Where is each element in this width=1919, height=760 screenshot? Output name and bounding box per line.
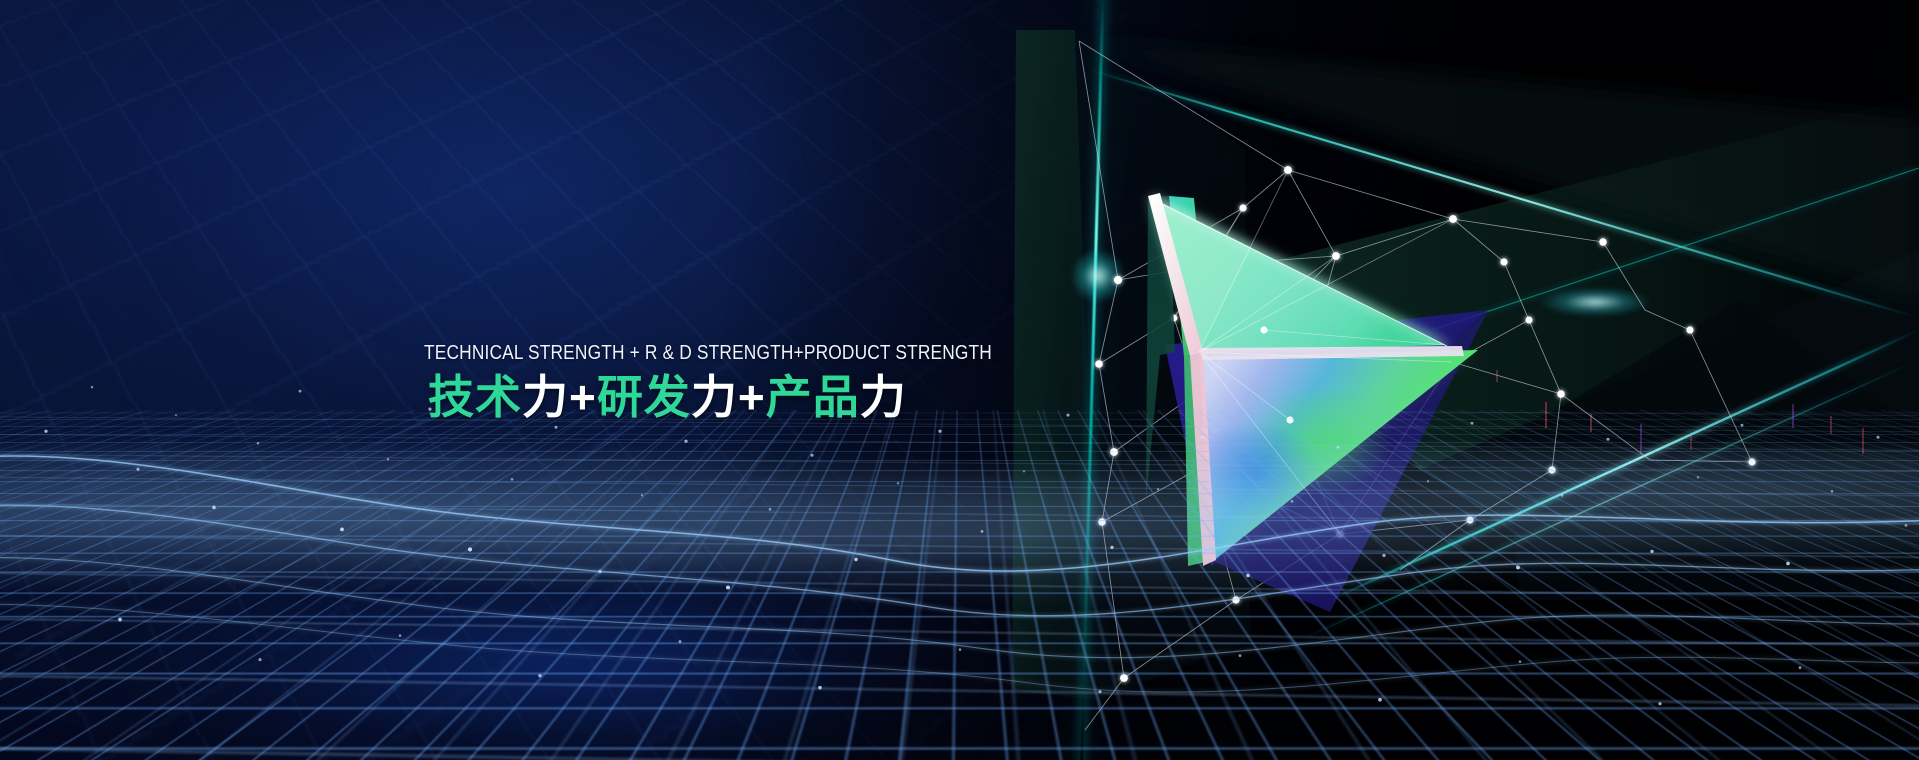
- terrain-crest-glow: [0, 448, 1919, 608]
- headline-segment-power-3: 力: [860, 371, 907, 423]
- hero-headline: 技术力+研发力+产品力: [428, 372, 1044, 424]
- hero-banner: TECHNICAL STRENGTH + R & D STRENGTH+PROD…: [0, 0, 1919, 760]
- beam-flare-glow: [1060, 238, 1136, 314]
- wireframe-terrain: [0, 410, 1919, 760]
- headline-segment-product: 产品: [766, 371, 860, 423]
- headline-segment-rnd: 研发: [597, 371, 691, 423]
- headline-segment-technical: 技术: [428, 371, 522, 423]
- headline-plus-2: +: [738, 371, 766, 423]
- headline-plus-1: +: [569, 371, 597, 423]
- hero-eyebrow-text: TECHNICAL STRENGTH + R & D STRENGTH+PROD…: [424, 342, 948, 364]
- headline-segment-power-1: 力: [522, 371, 569, 423]
- hero-text-block: TECHNICAL STRENGTH + R & D STRENGTH+PROD…: [424, 342, 1044, 423]
- beam-flare-glow-right: [1520, 282, 1670, 322]
- headline-segment-power-2: 力: [691, 371, 738, 423]
